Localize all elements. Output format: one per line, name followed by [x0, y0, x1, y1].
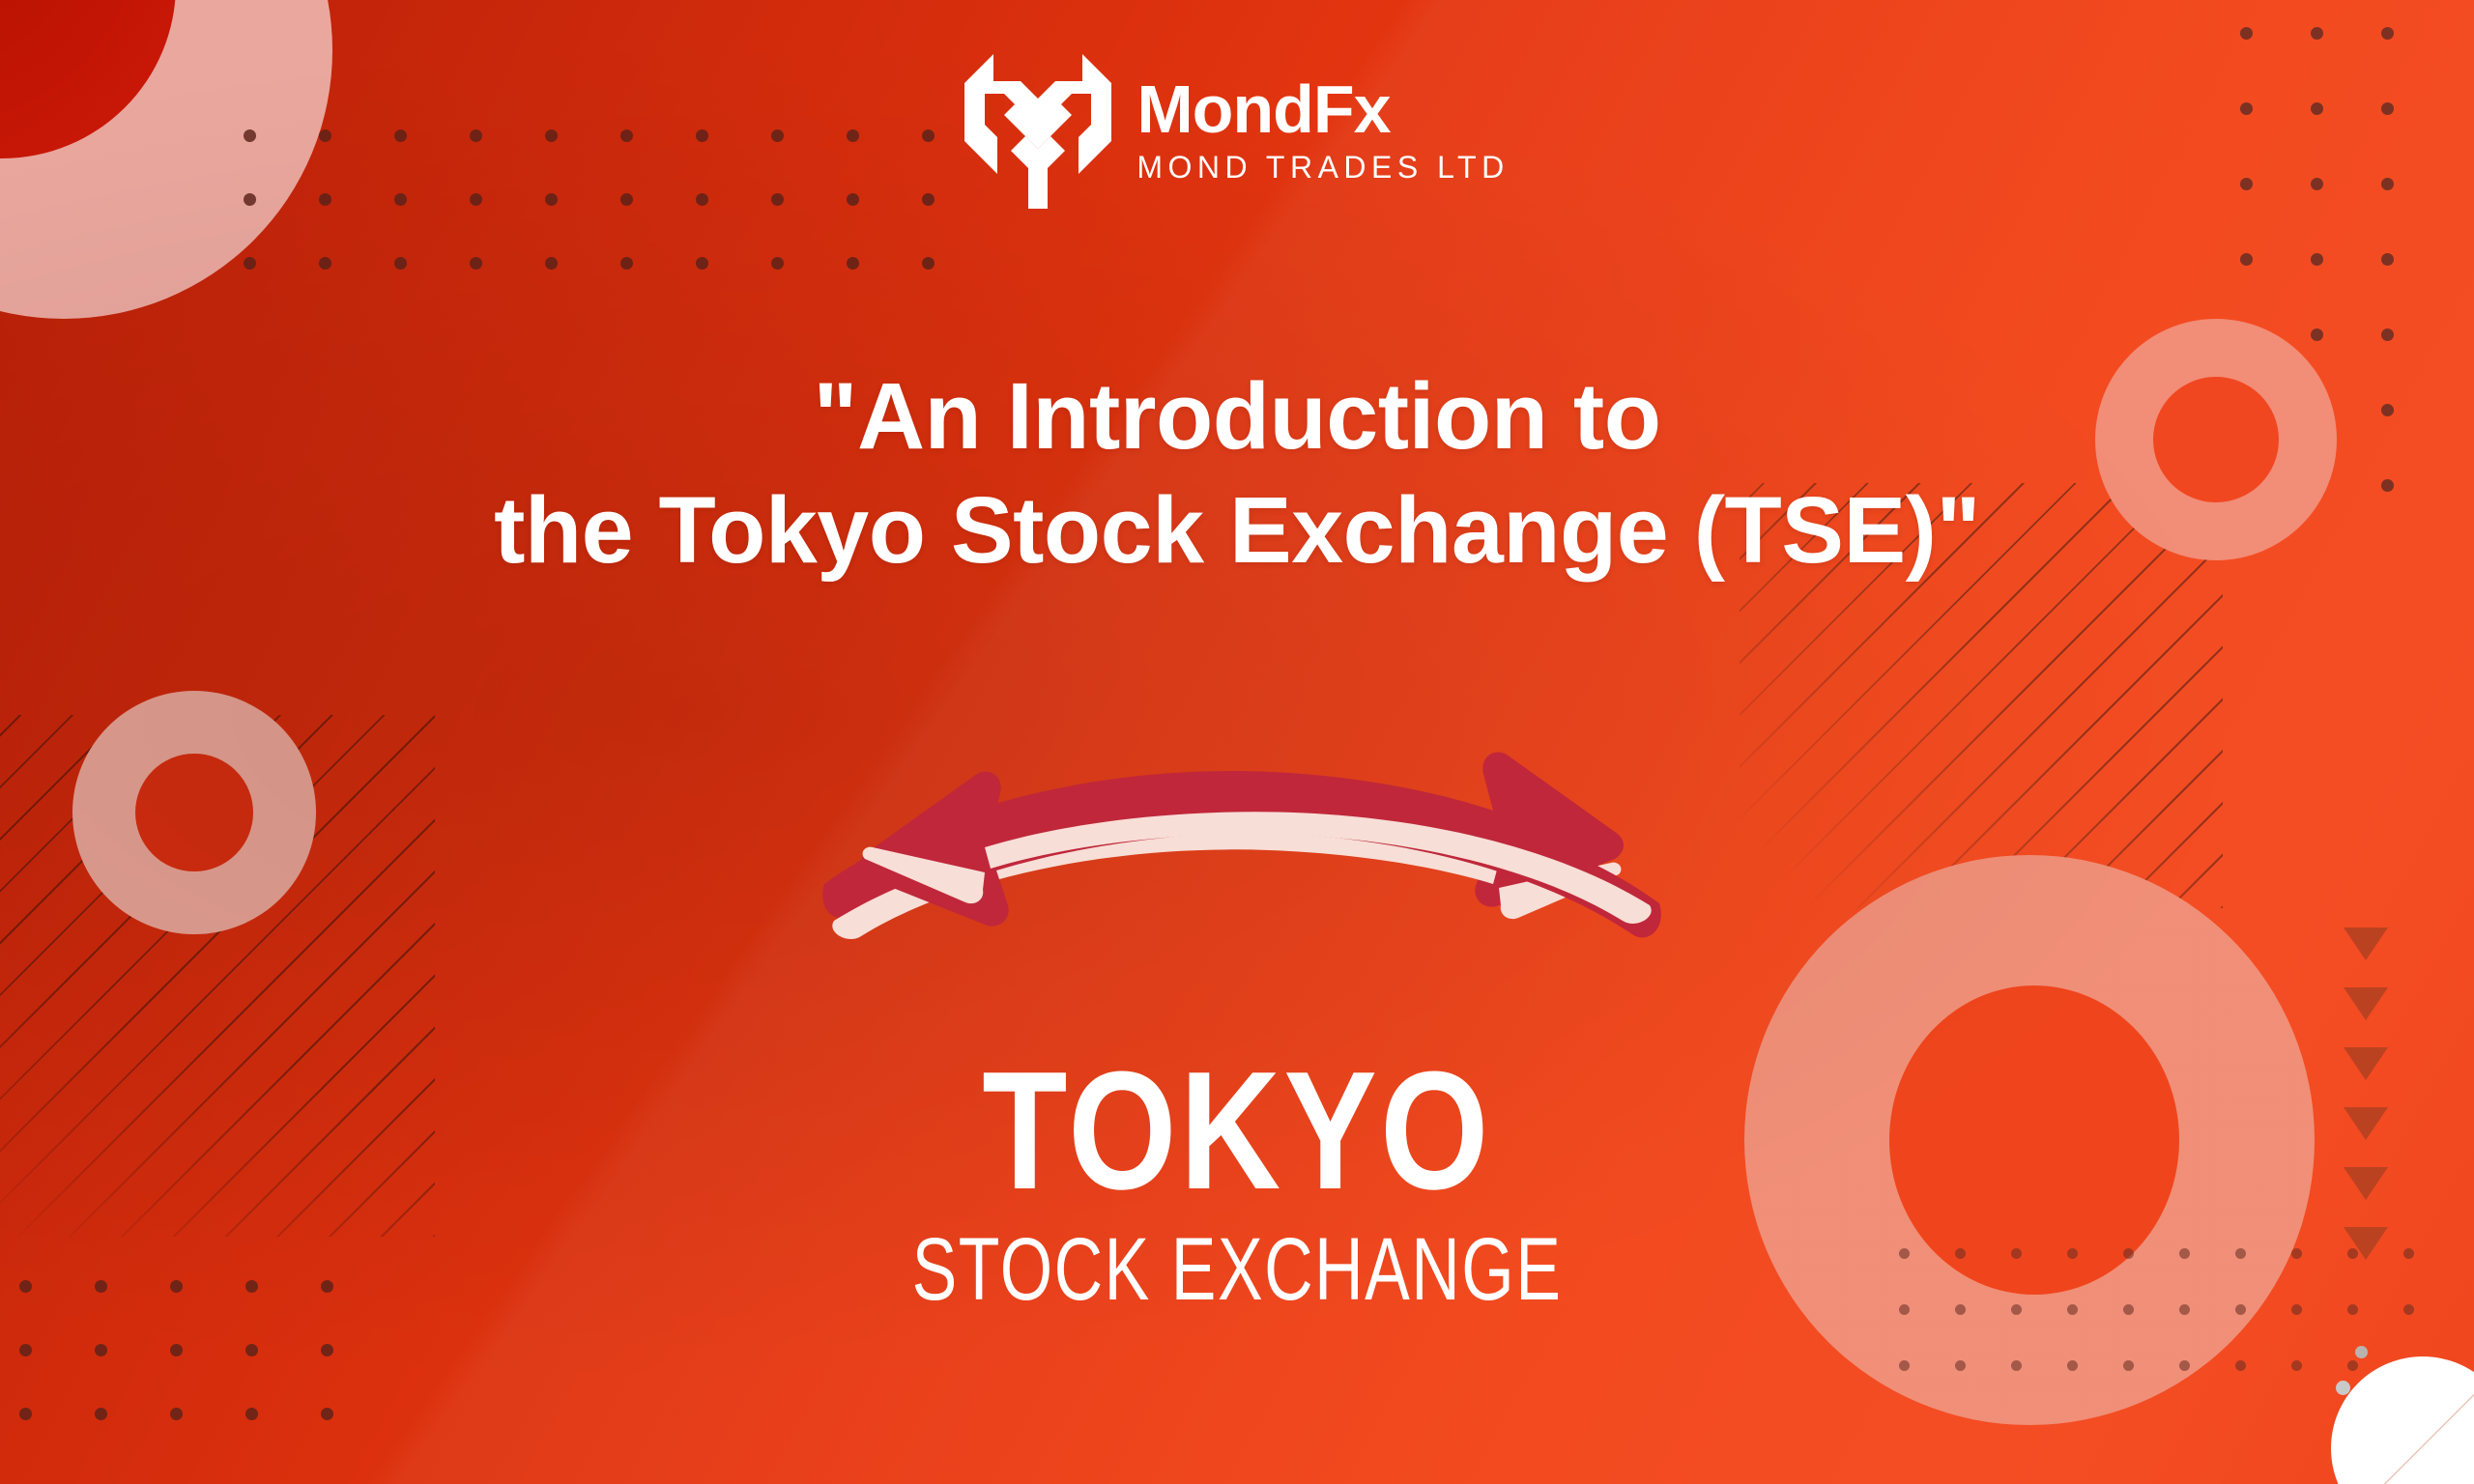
- subject-title: TOKYO: [211, 1053, 2264, 1208]
- subject-lockup: TOKYO STOCK EXCHANGE: [0, 1053, 2474, 1314]
- brand-tagline: MOND TRADES LTD: [1136, 152, 1509, 183]
- shield-wolf-chevron-icon: [964, 48, 1111, 209]
- corner-dot-a: [2336, 1381, 2350, 1395]
- promo-poster: MondFx MOND TRADES LTD "An Introduction …: [0, 0, 2474, 1484]
- headline-line-2: the Tokyo Stock Exchange (TSE)": [0, 473, 2474, 587]
- disc-left: [135, 754, 253, 871]
- brand-logo-text: MondFx MOND TRADES LTD: [1136, 75, 1509, 183]
- corner-dot-b: [2355, 1346, 2368, 1358]
- headline-line-1: "An Introduction to: [0, 359, 2474, 473]
- subject-subtitle: STOCK EXCHANGE: [297, 1225, 2177, 1314]
- brand-wordmark: MondFx: [1136, 75, 1509, 143]
- triangle-down-icon: [2344, 987, 2388, 1020]
- two-way-exchange-arrows-icon: [817, 691, 1667, 1048]
- brand-logo: MondFx MOND TRADES LTD: [0, 48, 2474, 209]
- triangle-down-icon: [2344, 927, 2388, 960]
- page-title: "An Introduction to the Tokyo Stock Exch…: [0, 359, 2474, 588]
